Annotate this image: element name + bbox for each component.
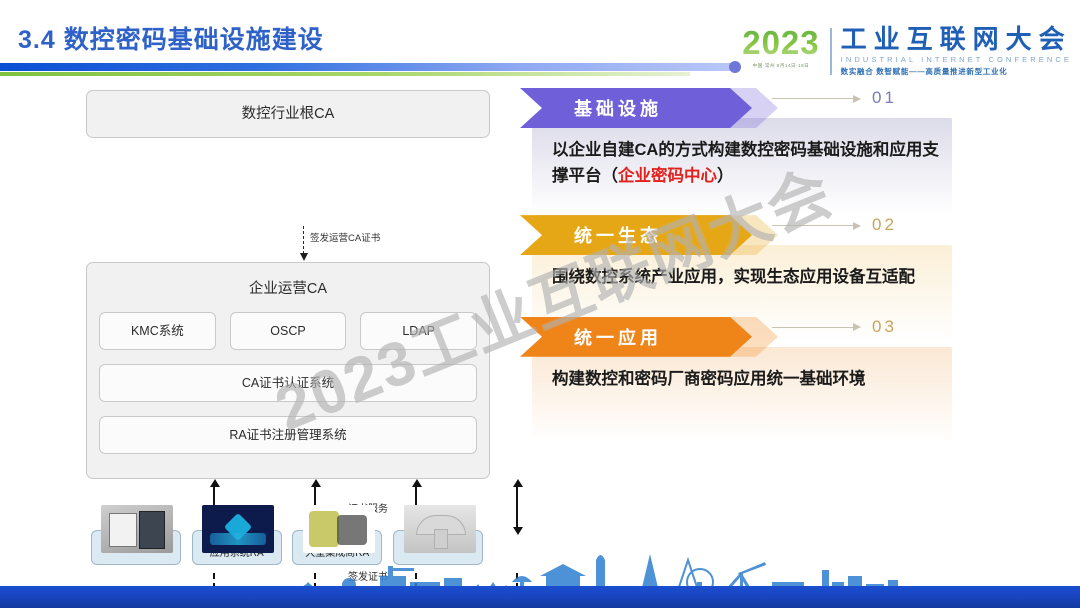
section-unified-application: 统一应用 03 构建数控和密码厂商密码应用统一基础环境 bbox=[520, 317, 990, 393]
section-1-banner-label: 基础设施 bbox=[574, 95, 662, 121]
section-1-body-post: ） bbox=[717, 167, 734, 185]
conference-logo: 2023 中国·常州 8月14日-19日 工业互联网大会 INDUSTRIAL … bbox=[742, 26, 1072, 77]
section-unified-ecosystem: 统一生态 02 围绕数控系统产业应用，实现生态应用设备互适配 bbox=[520, 215, 990, 291]
logo-year-text: 2023 bbox=[742, 26, 819, 59]
section-3-body-pre: 构建数控和密码厂商密码应用统一基础环境 bbox=[552, 370, 866, 388]
thumbnail-cell-2 bbox=[187, 505, 288, 553]
section-list: 基础设施 01 以企业自建CA的方式构建数控密码基础设施和应用支撑平台（企业密码… bbox=[520, 88, 990, 408]
footer-wave bbox=[0, 586, 1080, 608]
section-3-banner-label: 统一应用 bbox=[574, 324, 662, 350]
node-oscp: OSCP bbox=[230, 312, 347, 350]
logo-divider bbox=[830, 28, 832, 75]
robot-arms-photo bbox=[404, 505, 476, 553]
cnc-machine-photo bbox=[101, 505, 173, 553]
page-title: 3.4 数控密码基础设施建设 bbox=[18, 20, 324, 56]
section-1-body: 以企业自建CA的方式构建数控密码基础设施和应用支撑平台（企业密码中心） bbox=[552, 138, 950, 189]
thumbnail-cell-4 bbox=[389, 505, 490, 553]
section-2-banner: 统一生态 bbox=[520, 215, 752, 255]
node-ca-cert-system: CA证书认证系统 bbox=[99, 364, 477, 402]
ca-architecture-diagram: 数控行业根CA 签发运营CA证书 企业运营CA KMC系统 OSCP LDAP … bbox=[86, 90, 490, 138]
section-infrastructure: 基础设施 01 以企业自建CA的方式构建数控密码基础设施和应用支撑平台（企业密码… bbox=[520, 88, 990, 189]
arrow-service-4-icon bbox=[516, 486, 518, 528]
machine-parts-photo bbox=[303, 505, 375, 553]
section-3-panel bbox=[532, 347, 952, 443]
header-rule-green bbox=[0, 72, 690, 76]
section-3-banner: 统一应用 bbox=[520, 317, 752, 357]
footer-decoration bbox=[0, 548, 1080, 608]
label-sign-operation-ca: 签发运营CA证书 bbox=[310, 230, 380, 244]
logo-title-block: 工业互联网大会 INDUSTRIAL INTERNET CONFERENCE 数… bbox=[841, 26, 1072, 77]
header-rule-blue bbox=[0, 63, 735, 71]
thumbnail-row bbox=[86, 505, 490, 553]
section-2-arrow-icon bbox=[772, 225, 860, 226]
node-ra-register-system: RA证书注册管理系统 bbox=[99, 416, 477, 454]
section-1-body-pre: 以企业自建CA的方式构建数控密码基础设施和应用支撑平台（ bbox=[552, 141, 939, 185]
node-kmc-system: KMC系统 bbox=[99, 312, 216, 350]
node-operation-ca: 企业运营CA KMC系统 OSCP LDAP CA证书认证系统 RA证书注册管理… bbox=[86, 262, 490, 479]
section-1-arrow-icon bbox=[772, 98, 860, 99]
section-2-number: 02 bbox=[872, 215, 897, 235]
node-ldap: LDAP bbox=[360, 312, 477, 350]
section-3-arrow-icon bbox=[772, 327, 860, 328]
section-1-number: 01 bbox=[872, 88, 897, 108]
operation-ca-title: 企业运营CA bbox=[87, 263, 489, 298]
section-1-banner: 基础设施 bbox=[520, 88, 752, 128]
logo-year-block: 2023 中国·常州 8月14日-19日 bbox=[742, 26, 829, 69]
section-2-body: 围绕数控系统产业应用，实现生态应用设备互适配 bbox=[552, 265, 950, 291]
logo-slogan: 数实融合 数智赋能——高质量推进新型工业化 bbox=[841, 66, 1072, 77]
thumbnail-cell-3 bbox=[288, 505, 389, 553]
section-2-banner-label: 统一生态 bbox=[574, 222, 662, 248]
node-root-ca: 数控行业根CA bbox=[86, 90, 490, 138]
slide-canvas: 3.4 数控密码基础设施建设 2023 中国·常州 8月14日-19日 工业互联… bbox=[0, 0, 1080, 608]
arrow-root-to-operation-icon bbox=[303, 226, 304, 254]
logo-date-text: 中国·常州 8月14日-19日 bbox=[753, 62, 810, 69]
section-3-body: 构建数控和密码厂商密码应用统一基础环境 bbox=[552, 367, 950, 393]
section-1-body-highlight: 企业密码中心 bbox=[618, 167, 717, 185]
thumbnail-cell-1 bbox=[86, 505, 187, 553]
section-2-body-pre: 围绕数控系统产业应用，实现生态应用设备互适配 bbox=[552, 268, 915, 286]
subsystem-row: KMC系统 OSCP LDAP bbox=[87, 298, 489, 350]
blue-network-photo bbox=[202, 505, 274, 553]
logo-name-en: INDUSTRIAL INTERNET CONFERENCE bbox=[841, 55, 1072, 64]
logo-name-cn: 工业互联网大会 bbox=[841, 26, 1072, 53]
section-3-number: 03 bbox=[872, 317, 897, 337]
